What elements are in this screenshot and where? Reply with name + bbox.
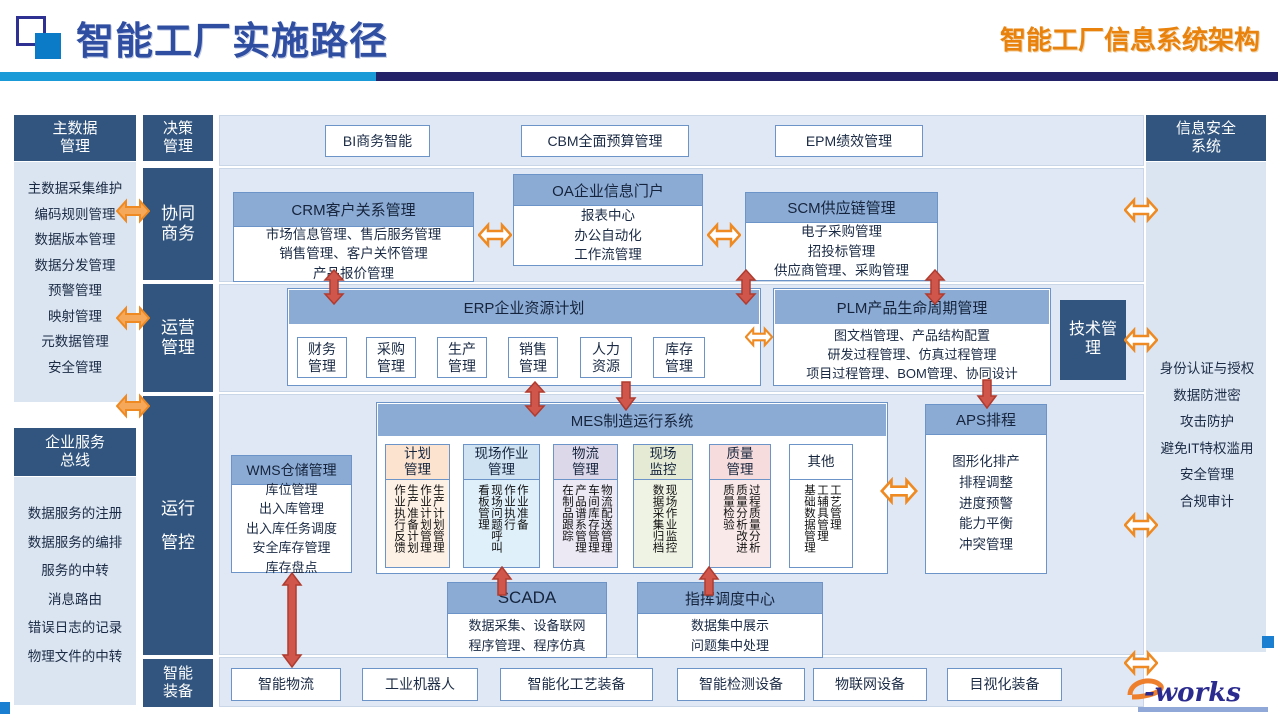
mes-col-monitor-line2: 监控: [650, 462, 677, 478]
logo: [16, 16, 66, 62]
service-bus-title-line2: 总线: [45, 452, 105, 470]
arrow-infosec-operation: [1124, 327, 1158, 353]
equipment-box-inspection-label: 智能检测设备: [699, 675, 783, 694]
equipment-box-robot[interactable]: 工业机器人: [362, 668, 478, 701]
arrow-mes-top: [615, 381, 637, 411]
plm-card-body: 图文档管理、产品结构配置 研发过程管理、仿真过程管理 项目过程管理、BOM管理、…: [775, 327, 1049, 383]
oa-card-header[interactable]: OA企业信息门户: [513, 174, 703, 206]
arrow-mes-aps: [880, 477, 918, 505]
mes-col-shopfloor-line2: 管理: [475, 462, 529, 478]
layer-equipment-line1: 智能: [163, 665, 193, 683]
eworks-logo: -works: [1122, 669, 1272, 715]
equipment-box-process[interactable]: 智能化工艺装备: [500, 668, 653, 701]
equipment-box-inspection[interactable]: 智能检测设备: [677, 668, 805, 701]
arrow-scm-plm: [924, 269, 946, 305]
erp-module-purchase-line1: 采购: [377, 341, 405, 358]
mes-col-monitor-line1: 现场: [650, 446, 677, 462]
equipment-box-visual[interactable]: 目视化装备: [947, 668, 1062, 701]
arrow-crm-erp: [323, 269, 345, 305]
erp-module-sales[interactable]: 销售 管理: [508, 337, 558, 378]
infosec-header: 信息安全 系统: [1146, 115, 1266, 161]
corner-marker-right: [1262, 636, 1274, 648]
mes-col-plan-line2: 管理: [404, 462, 431, 478]
scada-card-body: 数据采集、设备联网 程序管理、程序仿真: [447, 614, 607, 658]
erp-module-production[interactable]: 生产 管理: [437, 337, 487, 378]
master-data-item: 预警管理: [14, 284, 136, 298]
oa-body-line: 办公自动化: [574, 226, 642, 246]
mes-plan-item: 作业执行反馈: [392, 484, 404, 553]
infosec-title-line2: 系统: [1176, 138, 1236, 156]
decision-box-epm[interactable]: EPM绩效管理: [775, 125, 923, 157]
crm-card-body: 市场信息管理、售后服务管理 销售管理、客户关怀管理 产品报价管理: [233, 227, 474, 282]
crm-body-line: 市场信息管理、售后服务管理: [266, 225, 442, 245]
aps-card-body: 图形化排产 排程调整 进度预警 能力平衡 冲突管理: [925, 435, 1047, 574]
erp-module-inventory-line2: 管理: [665, 358, 693, 375]
erp-module-hr[interactable]: 人力 资源: [580, 337, 632, 378]
page-subtitle: 智能工厂信息系统架构: [1000, 20, 1260, 57]
decision-box-cbm[interactable]: CBM全面预算管理: [521, 125, 689, 157]
tech-management-line2: 理: [1069, 340, 1117, 359]
mes-col-plan-body: 生产计划管理 作业计划管理 生产准备计划 作业执行反馈: [385, 480, 450, 568]
arrow-wms-equipment: [281, 572, 303, 668]
oa-title: OA企业信息门户: [552, 180, 664, 201]
erp-module-finance-line1: 财务: [308, 341, 336, 358]
crm-title: CRM客户关系管理: [291, 199, 415, 220]
master-data-item: 安全管理: [14, 361, 136, 375]
oa-body-line: 工作流管理: [574, 245, 642, 265]
scada-body-line: 程序管理、程序仿真: [468, 636, 585, 656]
decision-box-epm-label: EPM绩效管理: [806, 132, 892, 151]
mes-col-monitor-header[interactable]: 现场 监控: [633, 444, 693, 480]
erp-module-production-line2: 管理: [448, 358, 476, 375]
mes-col-plan-line1: 计划: [404, 446, 431, 462]
arrow-mes-command: [698, 566, 720, 596]
mes-col-quality-header[interactable]: 质量 管理: [709, 444, 771, 480]
arrow-crm-oa: [478, 222, 512, 248]
tech-management-line1: 技术管: [1069, 321, 1117, 340]
scm-body-line: 供应商管理、采购管理: [774, 261, 909, 281]
plm-title: PLM产品生命周期管理: [837, 297, 988, 318]
infosec-title-line1: 信息安全: [1176, 120, 1236, 138]
command-card-header[interactable]: 指挥调度中心: [637, 582, 823, 614]
svg-text:-works: -works: [1144, 678, 1241, 708]
mes-col-logistics-header[interactable]: 物流 管理: [553, 444, 618, 480]
infosec-item-list: 身份认证与授权 数据防泄密 攻击防护 避免IT特权滥用 安全管理 合规审计: [1143, 362, 1271, 508]
header-rule-left: [0, 72, 376, 81]
tech-management-panel[interactable]: 技术管 理: [1060, 300, 1126, 380]
scm-body-line: 电子采购管理: [801, 222, 882, 242]
erp-module-production-line1: 生产: [448, 341, 476, 358]
service-bus-title-line1: 企业服务: [45, 434, 105, 452]
mes-shopfloor-item: 作业执行: [502, 484, 514, 530]
plm-body-line: 研发过程管理、仿真过程管理: [775, 346, 1049, 365]
erp-module-finance[interactable]: 财务 管理: [297, 337, 347, 378]
plm-body-line: 图文档管理、产品结构配置: [775, 327, 1049, 346]
scada-card-header[interactable]: SCADA: [447, 582, 607, 614]
erp-title: ERP企业资源计划: [464, 297, 585, 318]
decision-box-bi[interactable]: BI商务智能: [325, 125, 430, 157]
mes-col-logistics-body: 物流配送管理 车间库存管理 产品谱系管理 在制品跟踪: [553, 480, 618, 568]
service-bus-item: 数据服务的编排: [14, 536, 136, 550]
equipment-box-visual-label: 目视化装备: [970, 675, 1040, 694]
aps-body-line: 图形化排产: [952, 452, 1020, 473]
service-bus-item: 物理文件的中转: [14, 650, 136, 664]
decision-box-cbm-label: CBM全面预算管理: [547, 132, 662, 151]
layer-smart-equipment[interactable]: 智能 装备: [143, 659, 213, 707]
wms-body-line: 出入库任务调度: [246, 519, 337, 539]
arrow-erp-plm: [745, 325, 773, 349]
erp-module-hr-line2: 资源: [592, 358, 620, 375]
mes-shopfloor-item: 作业准备: [515, 484, 527, 530]
mes-plan-item: 生产计划管理: [431, 484, 443, 553]
layer-operation-line2: 管理: [161, 338, 195, 358]
mes-plan-item: 作业计划管理: [418, 484, 430, 553]
mes-other-item: 基础数据管理: [802, 484, 814, 553]
page-header: 智能工厂实施路径 智能工厂信息系统架构: [0, 0, 1278, 84]
mes-other-item: 工辅具管理: [815, 484, 827, 542]
master-data-item: 元数据管理: [14, 335, 136, 349]
mes-quality-item: 质量检验: [721, 484, 733, 530]
mes-col-other-header[interactable]: 其他: [789, 444, 853, 480]
mes-col-shopfloor-body: 作业准备 作业执行 现场问题呼叫 看板管理: [463, 480, 540, 568]
decision-box-bi-label: BI商务智能: [343, 132, 412, 151]
mes-shopfloor-item: 现场问题呼叫: [489, 484, 501, 553]
service-bus-item: 错误日志的记录: [14, 621, 136, 635]
header-rule-right: [376, 72, 1278, 81]
arrow-scm-erp: [735, 269, 757, 305]
plm-card-header[interactable]: PLM产品生命周期管理: [775, 290, 1049, 324]
mes-col-other-body: 工艺管理 工辅具管理 基础数据管理: [789, 480, 853, 568]
infosec-item: 安全管理: [1143, 468, 1271, 482]
oa-body-line: 报表中心: [581, 206, 635, 226]
wms-title: WMS仓储管理: [246, 460, 336, 480]
arrow-mes-scada: [491, 566, 513, 596]
mes-col-logistics-line1: 物流: [572, 446, 599, 462]
mes-title: MES制造运行系统: [571, 410, 694, 431]
erp-module-finance-line2: 管理: [308, 358, 336, 375]
mes-logistics-item: 在制品跟踪: [560, 484, 572, 542]
master-data-item: 数据版本管理: [14, 233, 136, 247]
mes-other-item: 工艺管理: [828, 484, 840, 530]
mes-col-monitor-body: 现场作业监控 数据采集归档: [633, 480, 693, 568]
arrow-masterdata-operation: [116, 305, 150, 331]
scada-body-line: 数据采集、设备联网: [468, 616, 585, 636]
wms-body-line: 库位管理: [265, 480, 317, 500]
wms-card-body: 库位管理 出入库管理 出入库任务调度 安全库存管理 库存盘点: [231, 485, 352, 573]
master-data-item: 数据分发管理: [14, 259, 136, 273]
erp-module-sales-line2: 管理: [519, 358, 547, 375]
mes-col-quality-line1: 质量: [727, 446, 754, 462]
wms-body-line: 出入库管理: [259, 499, 324, 519]
arrow-infosec-runtime: [1124, 512, 1158, 538]
equipment-box-logistics-label: 智能物流: [258, 675, 314, 694]
erp-module-purchase-line2: 管理: [377, 358, 405, 375]
mes-col-other-line1: 其他: [808, 454, 835, 470]
layer-operation-management[interactable]: 运营 管理: [143, 284, 213, 392]
scm-title: SCM供应链管理: [787, 197, 895, 218]
layer-runtime-control[interactable]: 运行 管控: [143, 396, 213, 655]
command-body-line: 数据集中展示: [691, 616, 769, 636]
erp-module-inventory-line1: 库存: [665, 341, 693, 358]
scm-card-body: 电子采购管理 招投标管理 供应商管理、采购管理: [745, 223, 938, 281]
erp-module-hr-line1: 人力: [592, 341, 620, 358]
erp-module-sales-line1: 销售: [519, 341, 547, 358]
service-bus-item: 服务的中转: [14, 564, 136, 578]
mes-monitor-item: 数据采集归档: [651, 484, 663, 553]
mes-quality-item: 质量分析改进: [734, 484, 746, 553]
scm-card-header[interactable]: SCM供应链管理: [745, 192, 938, 223]
aps-title: APS排程: [956, 409, 1016, 430]
mes-shopfloor-item: 看板管理: [476, 484, 488, 530]
arrow-oa-scm: [707, 222, 741, 248]
service-bus-header: 企业服务 总线: [14, 428, 136, 476]
mes-quality-item: 过程质量分析: [747, 484, 759, 553]
wms-body-line: 安全库存管理: [252, 538, 330, 558]
mes-col-shopfloor-header[interactable]: 现场作业 管理: [463, 444, 540, 480]
infosec-item: 数据防泄密: [1143, 389, 1271, 403]
service-bus-item: 消息路由: [14, 593, 136, 607]
corner-marker-left: [0, 702, 10, 714]
layer-collab-line1: 协同: [161, 204, 195, 224]
layer-collab-line2: 商务: [161, 224, 195, 244]
mes-col-quality-line2: 管理: [727, 462, 754, 478]
equipment-box-logistics[interactable]: 智能物流: [231, 668, 341, 701]
erp-module-inventory[interactable]: 库存 管理: [653, 337, 705, 378]
mes-col-logistics-line2: 管理: [572, 462, 599, 478]
service-bus-item-list: 数据服务的注册 数据服务的编排 服务的中转 消息路由 错误日志的记录 物理文件的…: [14, 477, 136, 705]
mes-col-quality-body: 过程质量分析 质量分析改进 质量检验: [709, 480, 771, 568]
infosec-item: 身份认证与授权: [1143, 362, 1271, 376]
aps-body-line: 能力平衡: [959, 514, 1013, 535]
layer-equipment-line2: 装备: [163, 683, 193, 701]
mes-plan-item: 生产准备计划: [405, 484, 417, 553]
arrow-masterdata-runtime: [116, 393, 150, 419]
equipment-box-iot[interactable]: 物联网设备: [813, 668, 927, 701]
layer-operation-line1: 运营: [161, 318, 195, 338]
infosec-item: 攻击防护: [1143, 415, 1271, 429]
plm-body-line: 项目过程管理、BOM管理、协同设计: [775, 365, 1049, 384]
infosec-item: 合规审计: [1143, 495, 1271, 509]
equipment-box-iot-label: 物联网设备: [835, 675, 905, 694]
mes-col-shopfloor-line1: 现场作业: [475, 446, 529, 462]
page-title: 智能工厂实施路径: [76, 10, 388, 65]
layer-decision-line2: 管理: [163, 138, 193, 156]
aps-body-line: 进度预警: [959, 494, 1013, 515]
oa-card-body: 报表中心 办公自动化 工作流管理: [513, 206, 703, 266]
layer-decision-line1: 决策: [163, 120, 193, 138]
layer-runtime-line1: 运行: [161, 492, 195, 526]
mes-logistics-item: 产品谱系管理: [573, 484, 585, 553]
crm-body-line: 销售管理、客户关怀管理: [279, 244, 428, 264]
arrow-plm-aps: [976, 379, 998, 409]
master-data-title-line2: 管理: [52, 138, 97, 156]
layer-collaborative-commerce[interactable]: 协同 商务: [143, 168, 213, 280]
arrow-masterdata-collab: [116, 198, 150, 224]
mes-col-plan-header[interactable]: 计划 管理: [385, 444, 450, 480]
command-card-body: 数据集中展示 问题集中处理: [637, 614, 823, 658]
master-data-header: 主数据 管理: [14, 115, 136, 161]
equipment-box-process-label: 智能化工艺装备: [528, 675, 626, 694]
service-bus-item: 数据服务的注册: [14, 507, 136, 521]
mes-logistics-item: 物流配送管理: [599, 484, 611, 553]
arrow-infosec-collab: [1124, 197, 1158, 223]
arrow-erp-mes: [524, 381, 546, 417]
aps-body-line: 排程调整: [959, 473, 1013, 494]
infosec-item: 避免IT特权滥用: [1143, 442, 1271, 456]
mes-logistics-item: 车间库存管理: [586, 484, 598, 553]
erp-module-purchase[interactable]: 采购 管理: [366, 337, 416, 378]
layer-decision[interactable]: 决策 管理: [143, 115, 213, 161]
erp-card-header[interactable]: ERP企业资源计划: [289, 290, 759, 324]
crm-card-header[interactable]: CRM客户关系管理: [233, 192, 474, 227]
square-solid-icon: [35, 33, 61, 59]
master-data-item: 主数据采集维护: [14, 182, 136, 196]
master-data-title-line1: 主数据: [52, 120, 97, 138]
equipment-box-robot-label: 工业机器人: [385, 675, 455, 694]
layer-runtime-line2: 管控: [161, 526, 195, 560]
scm-body-line: 招投标管理: [808, 242, 876, 262]
command-body-line: 问题集中处理: [691, 636, 769, 656]
aps-body-line: 冲突管理: [959, 535, 1013, 556]
mes-monitor-item: 现场作业监控: [664, 484, 676, 553]
